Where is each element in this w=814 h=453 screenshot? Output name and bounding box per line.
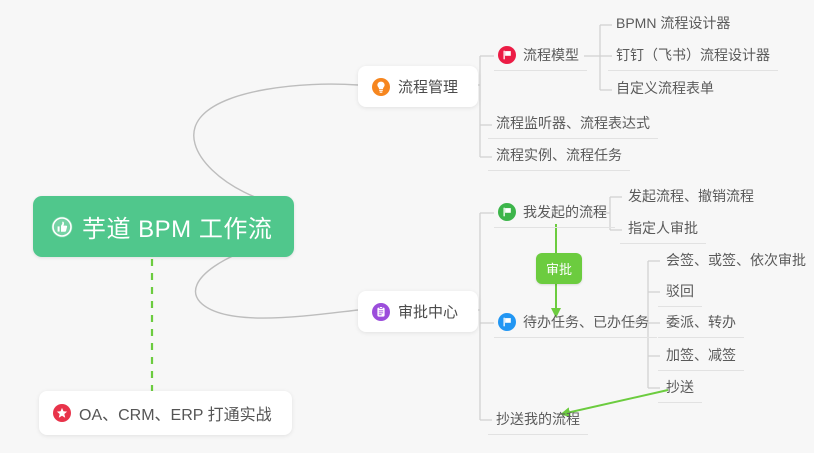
- node-todo-done-tasks[interactable]: 待办任务、已办任务: [494, 309, 657, 338]
- node-process-management-label: 流程管理: [398, 76, 458, 97]
- node-start-cancel-process[interactable]: 发起流程、撤销流程: [620, 183, 762, 212]
- node-cc-to-me-process[interactable]: 抄送我的流程: [488, 406, 588, 435]
- node-approval-center[interactable]: 审批中心: [358, 291, 478, 332]
- edge-root-to-process-management: [194, 84, 358, 205]
- node-instance-task[interactable]: 流程实例、流程任务: [488, 142, 630, 171]
- node-oa-crm-erp-label: OA、CRM、ERP 打通实战: [79, 401, 272, 425]
- thumbs-up-icon: [51, 216, 73, 238]
- node-carbon-copy[interactable]: 抄送: [658, 374, 702, 403]
- flag-icon: [498, 203, 516, 221]
- flag-icon: [498, 46, 516, 64]
- flag-icon: [498, 313, 516, 331]
- node-oa-crm-erp[interactable]: OA、CRM、ERP 打通实战: [39, 391, 292, 435]
- node-bpmn-designer[interactable]: BPMN 流程设计器: [608, 10, 738, 39]
- node-my-initiated-process[interactable]: 我发起的流程: [494, 199, 615, 228]
- root-label: 芋道 BPM 工作流: [82, 209, 272, 244]
- node-process-management[interactable]: 流程管理: [358, 66, 478, 107]
- node-dingtalk-feishu-designer[interactable]: 钉钉（飞书）流程设计器: [608, 42, 778, 71]
- approval-arrow-label[interactable]: 审批: [536, 253, 582, 284]
- node-process-model[interactable]: 流程模型: [494, 42, 587, 71]
- node-delegate-transfer[interactable]: 委派、转办: [658, 309, 744, 338]
- node-todo-done-tasks-label: 待办任务、已办任务: [523, 312, 649, 332]
- node-listener-expression[interactable]: 流程监听器、流程表达式: [488, 110, 658, 139]
- node-assignee-approval[interactable]: 指定人审批: [620, 215, 706, 244]
- node-custom-process-form[interactable]: 自定义流程表单: [608, 75, 722, 104]
- node-reject[interactable]: 驳回: [658, 278, 702, 307]
- lightbulb-icon: [372, 78, 390, 96]
- node-process-model-label: 流程模型: [523, 45, 579, 65]
- node-add-remove-sign[interactable]: 加签、减签: [658, 342, 744, 371]
- node-my-initiated-process-label: 我发起的流程: [523, 202, 607, 222]
- mindmap-canvas: 芋道 BPM 工作流 流程管理 流程模型 BPMN 流程设计器 钉钉（飞书）流程…: [0, 0, 814, 453]
- node-countersign[interactable]: 会签、或签、依次审批: [658, 247, 814, 276]
- node-approval-center-label: 审批中心: [398, 301, 458, 322]
- star-icon: [53, 404, 71, 422]
- clipboard-icon: [372, 303, 390, 321]
- root-node[interactable]: 芋道 BPM 工作流: [33, 196, 294, 257]
